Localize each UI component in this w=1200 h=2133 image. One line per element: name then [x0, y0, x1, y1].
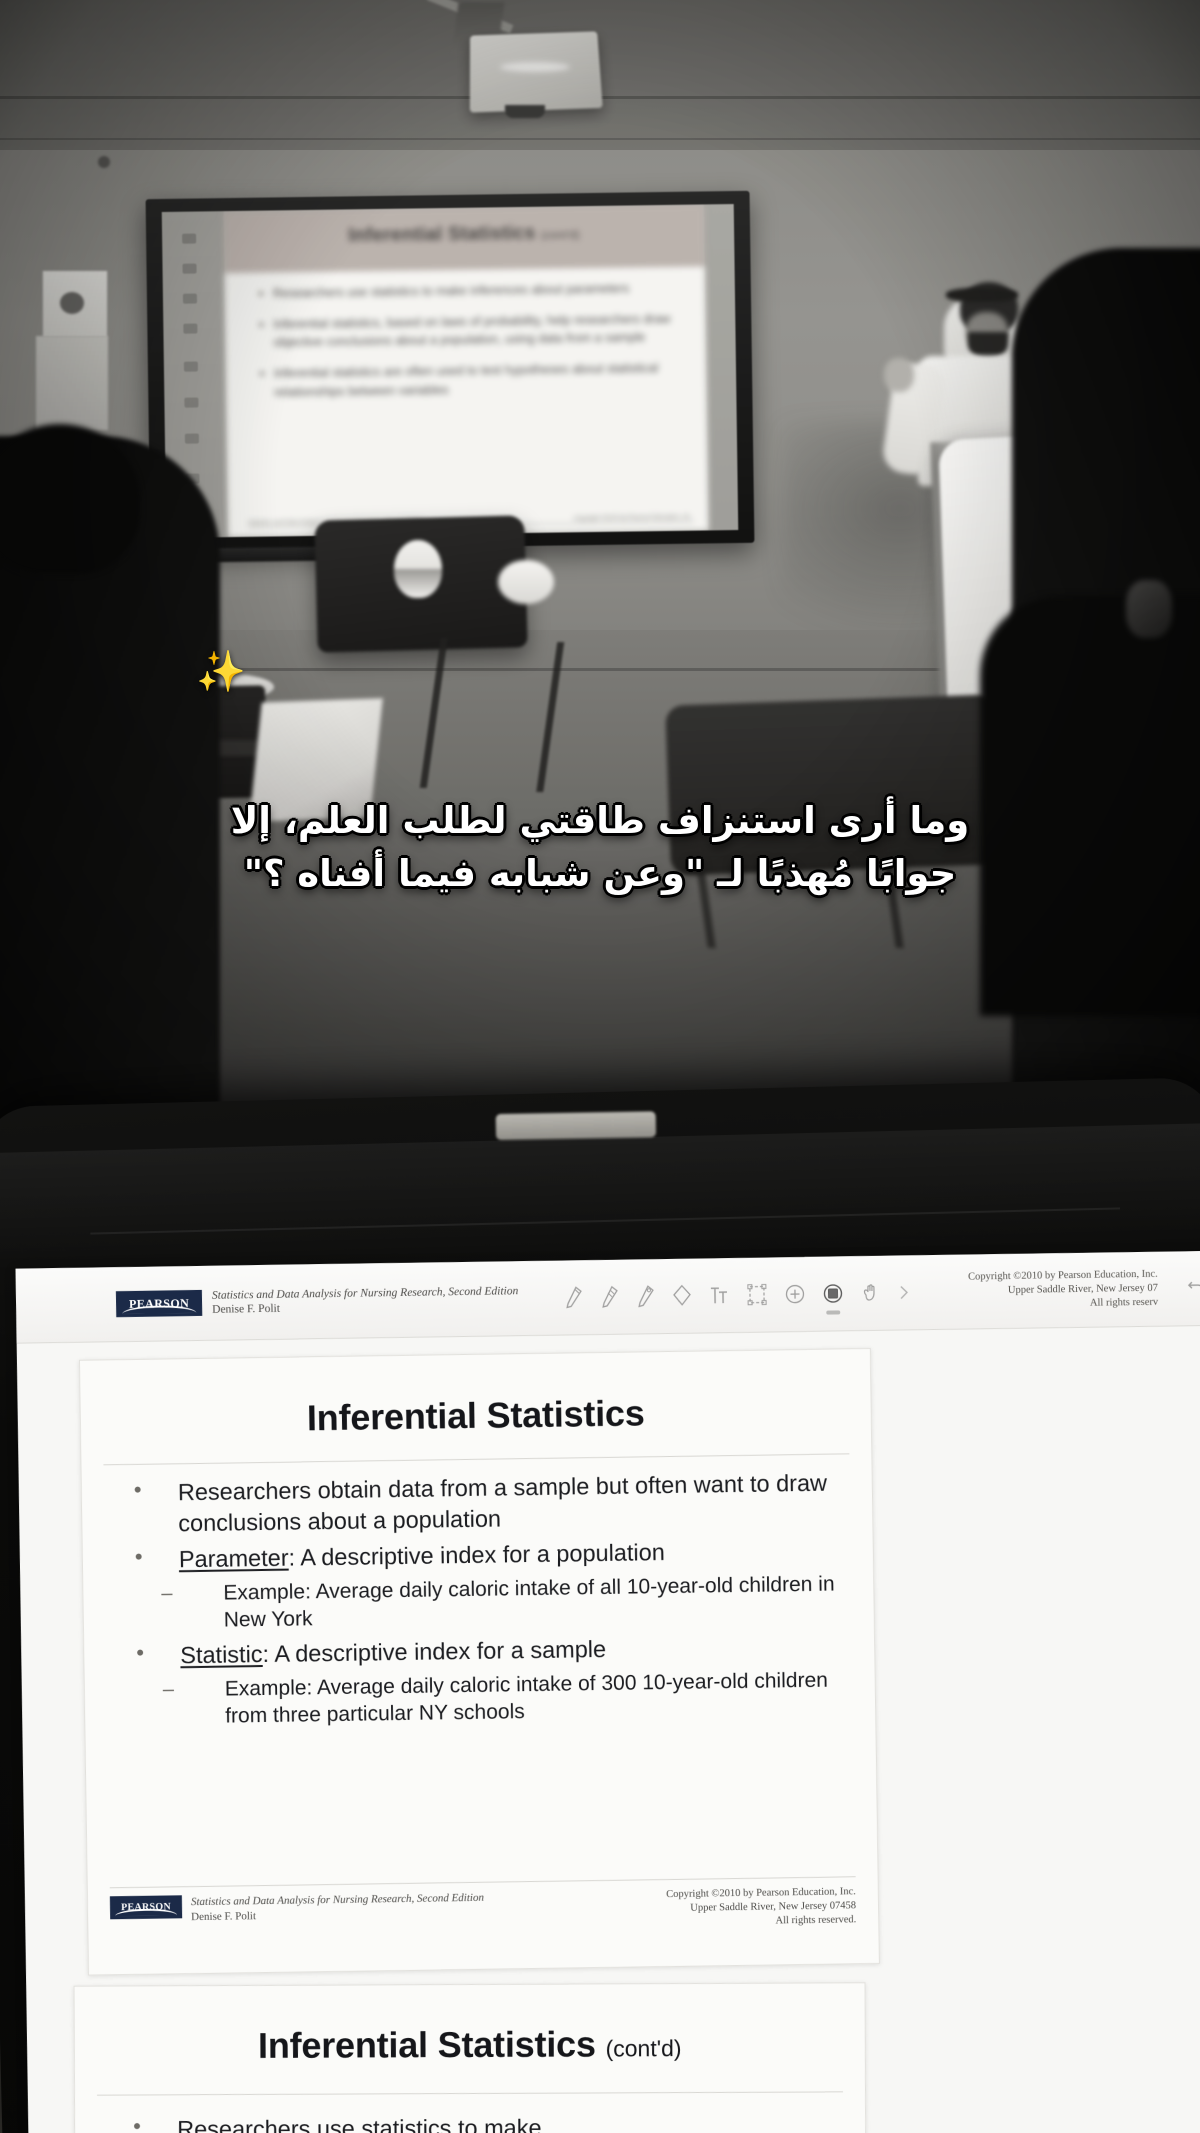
slide1-footer-copyright-line3: All rights reserved.: [667, 1914, 857, 1931]
slide1-bullet-2-lead: Parameter: [179, 1545, 289, 1573]
smartboard-display: Inferential Statistics (cont'd) Research…: [162, 204, 738, 538]
slide1-subbullet-1: Example: Average daily caloric intake of…: [113, 1571, 848, 1636]
toolbar-copyright-line3: All rights reserv: [968, 1296, 1158, 1313]
sparkles-icon: ✨: [196, 648, 246, 695]
slide1-subbullet-2: Example: Average daily caloric intake of…: [115, 1667, 850, 1732]
wall-paper-sheet: [36, 336, 108, 430]
slide2-body: Researchers use statistics to make: [111, 2111, 839, 2133]
slide1-title: Inferential Statistics: [307, 1392, 645, 1439]
projected-slide-title-text: Inferential Statistics: [348, 223, 535, 247]
toolbar-copyright: Copyright ©2010 by Pearson Education, In…: [968, 1267, 1158, 1312]
screenshot-root: Inferential Statistics (cont'd) Research…: [0, 0, 1200, 2133]
projector-glint: [500, 62, 570, 72]
tablet-camera-notch: [496, 1111, 656, 1140]
smartboard-rightbar: [704, 204, 739, 530]
shape-tool-icon[interactable]: [822, 1281, 844, 1305]
ceiling-seam-secondary: [0, 138, 1200, 140]
lasso-select-tool-icon[interactable]: [746, 1282, 768, 1306]
slide1-footer-copyright: Copyright ©2010 by Pearson Education, In…: [666, 1885, 856, 1930]
projected-bullet: Inferential statistics are often used to…: [260, 359, 684, 401]
slide1-bullet-3-text: : A descriptive index for a sample: [262, 1636, 606, 1667]
projected-slide: Inferential Statistics (cont'd) Research…: [224, 204, 709, 537]
slide1-bullet-3: Statistic: A descriptive index for a sam…: [114, 1631, 848, 1672]
annotation-tool-group[interactable]: [564, 1280, 910, 1309]
slide1-title-box: Inferential Statistics: [102, 1367, 849, 1465]
slide1-footer-book-info: Statistics and Data Analysis for Nursing…: [191, 1891, 484, 1925]
undo-button-icon[interactable]: [1186, 1275, 1200, 1300]
pearson-logo: PEARSON: [116, 1290, 202, 1317]
slide2-title-box: Inferential Statistics (cont'd): [97, 1995, 843, 2095]
projected-bullet: Inferential statistics, based on laws of…: [259, 310, 683, 352]
pen-tool-icon[interactable]: [564, 1285, 584, 1309]
slide1-footer: PEARSON Statistics and Data Analysis for…: [110, 1876, 857, 1958]
slide1-footer-pearson-logo: PEARSON: [110, 1895, 182, 1919]
arabic-caption: وما أرى استنزاف طاقتي لطلب العلم، إلا جو…: [0, 795, 1200, 900]
chair-emblem-icon: [394, 540, 442, 598]
slide1-bullet-2: Parameter: A descriptive index for a pop…: [113, 1534, 847, 1575]
pdf-slide-page-2[interactable]: Inferential Statistics (cont'd) Research…: [74, 1982, 867, 2133]
chair-legs: [420, 638, 564, 792]
slide2-title-text: Inferential Statistics: [258, 2023, 596, 2065]
projected-bullet: Researchers use statistics to make infer…: [259, 279, 683, 303]
hand-tool-icon[interactable]: [860, 1281, 882, 1305]
slide1-bullet-3-lead: Statistic: [180, 1641, 263, 1668]
more-tools-chevron-icon[interactable]: [898, 1280, 910, 1304]
classroom-photo: Inferential Statistics (cont'd) Research…: [0, 0, 1200, 1160]
slide2-title: Inferential Statistics (cont'd): [258, 2023, 682, 2067]
projected-slide-body: Researchers use statistics to make infer…: [259, 279, 685, 415]
pdf-slide-page-1[interactable]: Inferential Statistics Researchers obtai…: [79, 1348, 880, 1976]
slide1-bullet-2-text: : A descriptive index for a population: [288, 1539, 665, 1571]
slide1-footer-book-author: Denise F. Polit: [191, 1906, 484, 1925]
lecturer-beard: [968, 332, 1008, 358]
wall-fixture-icon: [98, 156, 110, 168]
toolbar-book-info: Statistics and Data Analysis for Nursing…: [212, 1284, 519, 1317]
pencil-tool-icon[interactable]: [636, 1284, 656, 1308]
slide1-bullet-1: Researchers obtain data from a sample bu…: [112, 1467, 847, 1539]
toolbar-action-group[interactable]: [1186, 1272, 1200, 1302]
pdf-reader-app: PEARSON Statistics and Data Analysis for…: [16, 1251, 1200, 2133]
wall-notice-logo-icon: [60, 292, 84, 314]
smartboard: Inferential Statistics (cont'd) Research…: [146, 191, 755, 551]
slide2-bullet-1: Researchers use statistics to make: [111, 2111, 839, 2133]
lecturer-igal-band: [946, 288, 1018, 302]
text-tool-icon[interactable]: [708, 1283, 730, 1307]
foreground-person-right-highlight: [1126, 580, 1172, 638]
projected-slide-title-suffix: (cont'd): [541, 229, 580, 242]
slide1-body: Researchers obtain data from a sample bu…: [112, 1467, 850, 1738]
eraser-tool-icon[interactable]: [672, 1284, 692, 1308]
tablet-screen-sheen: [0, 1123, 1200, 1273]
add-tool-icon[interactable]: [784, 1282, 806, 1306]
highlighter-tool-icon[interactable]: [600, 1285, 620, 1309]
lecturer-hand: [884, 358, 914, 392]
chair-seat-pad: [498, 560, 554, 604]
slide2-title-suffix: (cont'd): [606, 2035, 682, 2061]
tablet-device: PEARSON Statistics and Data Analysis for…: [0, 1077, 1200, 2133]
projector-lens-icon: [505, 105, 545, 118]
